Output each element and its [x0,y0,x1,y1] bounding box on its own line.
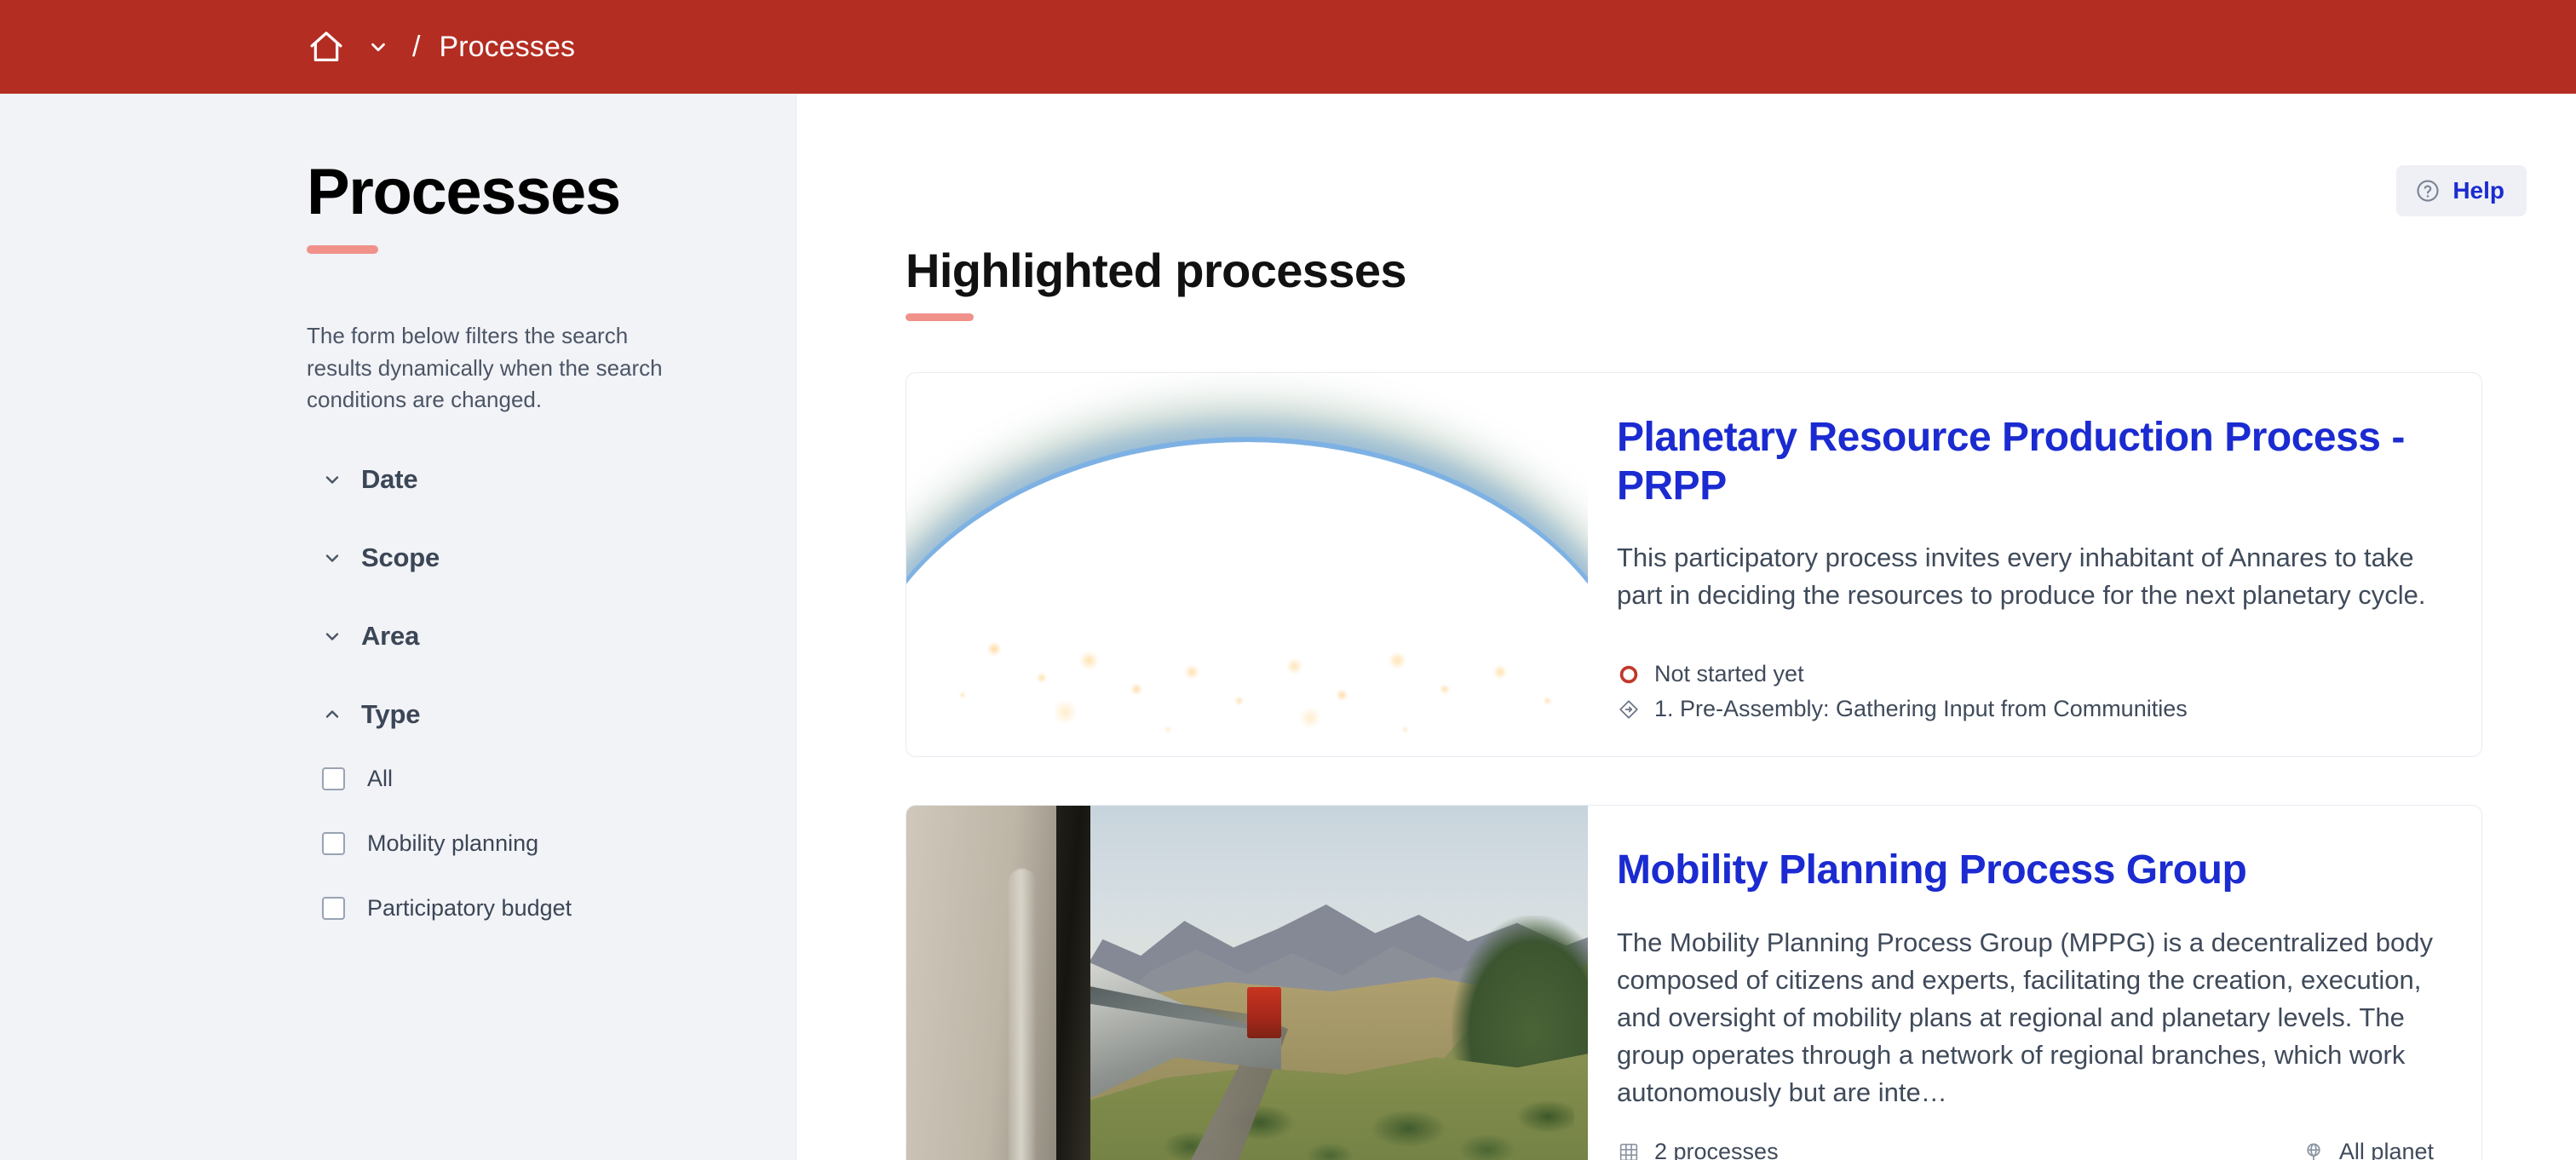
process-phase-row: 1. Pre-Assembly: Gathering Input from Co… [1617,696,2434,722]
filter-toggle-date[interactable]: Date [322,464,676,495]
section-underline-accent [906,313,974,321]
home-icon[interactable] [307,27,346,66]
process-status-text: Not started yet [1654,661,1804,687]
breadcrumb-current[interactable]: Processes [439,31,575,64]
help-button[interactable]: Help [2396,165,2527,216]
process-card-description: This participatory process invites every… [1617,539,2434,614]
filter-label-area: Area [361,621,419,652]
page-title: Processes [307,160,676,225]
filter-group-area: Area [307,621,676,652]
process-card-list: Planetary Resource Production Process - … [906,372,2482,1160]
filter-option-label: Mobility planning [367,830,538,857]
process-card[interactable]: Planetary Resource Production Process - … [906,372,2482,757]
checkbox-participatory-budget[interactable] [322,897,345,920]
breadcrumb-chevron-down-icon[interactable] [359,28,397,66]
filter-option-all[interactable]: All [322,766,676,792]
filter-option-mobility-planning[interactable]: Mobility planning [322,830,676,857]
process-scope-row: All planet [2302,1139,2434,1160]
globe-pin-icon [2302,1140,2326,1160]
page-layout: Processes The form below filters the sea… [0,94,2576,1160]
process-card-footer: 2 processes [1617,1120,2434,1160]
process-card-image-earth-from-space-night-lights [906,373,1588,756]
process-count-text: 2 processes [1654,1139,1779,1160]
filter-label-type: Type [361,699,420,730]
topbar: / Processes [0,0,2576,94]
process-card-body: Planetary Resource Production Process - … [1588,373,2481,756]
checkbox-mobility-planning[interactable] [322,832,345,855]
chevron-down-icon [322,548,342,568]
question-circle-icon [2415,178,2441,204]
filter-label-scope: Scope [361,543,440,573]
checkbox-all[interactable] [322,767,345,790]
filters-sidebar: Processes The form below filters the sea… [0,94,796,1160]
filter-option-participatory-budget[interactable]: Participatory budget [322,895,676,922]
chevron-down-icon [322,469,342,490]
filter-option-label: All [367,766,393,792]
chevron-down-icon [322,626,342,646]
grid-icon [1617,1140,1641,1160]
process-card-title-link[interactable]: Planetary Resource Production Process - … [1617,414,2434,510]
main-content: Help Highlighted processes Planetary Res… [796,94,2576,1160]
breadcrumb-separator: / [412,32,420,61]
filter-options-type: All Mobility planning Participatory budg… [322,766,676,922]
phase-diamond-icon [1617,698,1641,721]
help-label: Help [2452,177,2504,204]
filter-toggle-type[interactable]: Type [322,699,676,730]
process-status-row: Not started yet [1617,661,2434,687]
filter-group-date: Date [307,464,676,495]
filter-option-label: Participatory budget [367,895,572,922]
process-card-title-link[interactable]: Mobility Planning Process Group [1617,847,2434,895]
process-card-body: Mobility Planning Process Group The Mobi… [1588,806,2481,1160]
process-scope-text: All planet [2339,1139,2434,1160]
title-underline-accent [307,245,378,254]
status-circle-icon [1617,663,1641,686]
process-card[interactable]: Mobility Planning Process Group The Mobi… [906,805,2482,1160]
process-card-image-train-in-mountain-valley [906,806,1588,1160]
process-card-meta: Not started yet 1. Pre-Assembly: Gatheri [1617,634,2434,722]
process-phase-text: 1. Pre-Assembly: Gathering Input from Co… [1654,696,2188,722]
process-count-row: 2 processes [1617,1139,1779,1160]
section-title: Highlighted processes [906,247,2482,295]
filter-toggle-area[interactable]: Area [322,621,676,652]
filter-toggle-scope[interactable]: Scope [322,543,676,573]
filters-description: The form below filters the search result… [307,320,676,416]
process-card-description: The Mobility Planning Process Group (MPP… [1617,924,2434,1111]
filter-label-date: Date [361,464,417,495]
chevron-up-icon [322,704,342,725]
filter-group-scope: Scope [307,543,676,573]
filter-group-type: Type All Mobility planning Participatory… [307,699,676,922]
